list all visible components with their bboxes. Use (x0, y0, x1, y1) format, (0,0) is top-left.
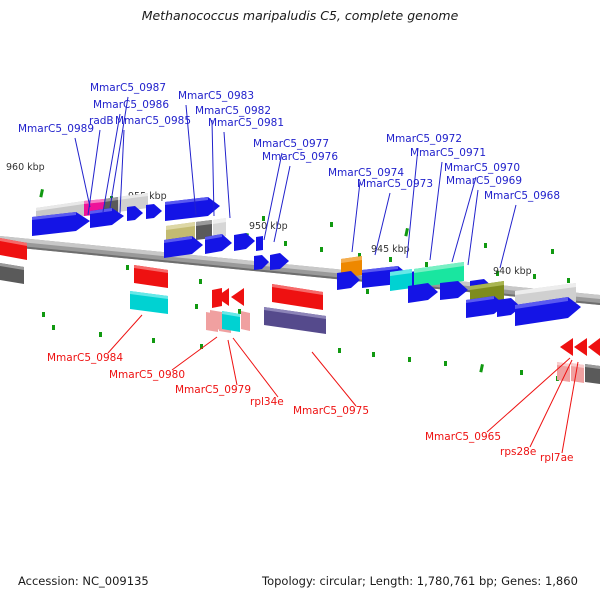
gene-label-mmarc5-0983[interactable]: MmarC5_0983 (178, 90, 254, 102)
ruler-tick-label: 940 kbp (493, 266, 532, 277)
gene-label-mmarc5-0965[interactable]: MmarC5_0965 (425, 431, 501, 443)
gene-label-mmarc5-0982[interactable]: MmarC5_0982 (195, 105, 271, 117)
gene-label-rpl7ae[interactable]: rpl7ae (540, 452, 573, 464)
gene-label-mmarc5-0968[interactable]: MmarC5_0968 (484, 190, 560, 202)
gene-label-mmarc5-0985[interactable]: MmarC5_0985 (115, 115, 191, 127)
gene-label-rpl34e[interactable]: rpl34e (250, 396, 284, 408)
gene-label-mmarc5-0975[interactable]: MmarC5_0975 (293, 405, 369, 417)
gene-label-mmarc5-0972[interactable]: MmarC5_0972 (386, 133, 462, 145)
gene-label-mmarc5-0969[interactable]: MmarC5_0969 (446, 175, 522, 187)
gene-label-mmarc5-0973[interactable]: MmarC5_0973 (357, 178, 433, 190)
gene-label-mmarc5-0989[interactable]: MmarC5_0989 (18, 123, 94, 135)
gene-label-radb[interactable]: radB (89, 115, 114, 127)
gene-label-mmarc5-0986[interactable]: MmarC5_0986 (93, 99, 169, 111)
gene-label-rps28e[interactable]: rps28e (500, 446, 536, 458)
gene-label-mmarc5-0981[interactable]: MmarC5_0981 (208, 117, 284, 129)
gene-label-mmarc5-0976[interactable]: MmarC5_0976 (262, 151, 338, 163)
gene-label-mmarc5-0984[interactable]: MmarC5_0984 (47, 352, 123, 364)
gene-label-mmarc5-0980[interactable]: MmarC5_0980 (109, 369, 185, 381)
accession-text: Accession: NC_009135 (18, 574, 149, 588)
gene-label-mmarc5-0987[interactable]: MmarC5_0987 (90, 82, 166, 94)
genome-map-canvas: Methanococcus maripaludis C5, complete g… (0, 0, 600, 600)
gene-label-mmarc5-0970[interactable]: MmarC5_0970 (444, 162, 520, 174)
ruler-tick-label: 950 kbp (249, 221, 288, 232)
page-title: Methanococcus maripaludis C5, complete g… (142, 8, 459, 23)
gene-label-mmarc5-0971[interactable]: MmarC5_0971 (410, 147, 486, 159)
genome-stats-text: Topology: circular; Length: 1,780,761 bp… (261, 574, 578, 588)
ruler-tick-label: 960 kbp (6, 162, 45, 173)
gene-label-mmarc5-0977[interactable]: MmarC5_0977 (253, 138, 329, 150)
gene-label-mmarc5-0979[interactable]: MmarC5_0979 (175, 384, 251, 396)
